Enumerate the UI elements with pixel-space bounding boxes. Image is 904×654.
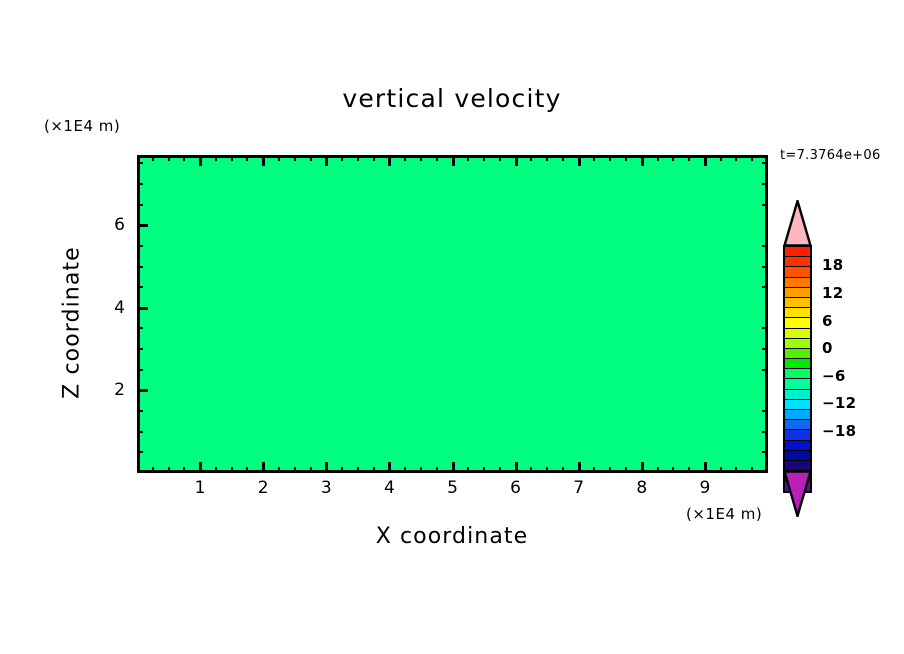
x-axis-tick-label: 2 (258, 478, 269, 498)
colorbar-band (785, 359, 810, 369)
y-axis-minor-tick (137, 431, 143, 433)
colorbar-band (785, 369, 810, 379)
x-axis-tick (704, 155, 707, 166)
colorbar-tick-label: 12 (822, 284, 843, 302)
x-axis-minor-tick (546, 155, 548, 161)
y-axis-tick-label: 6 (85, 215, 125, 235)
x-axis-minor-tick (483, 467, 485, 473)
x-axis-minor-tick (546, 467, 548, 473)
x-axis-tick-label: 9 (699, 478, 710, 498)
contour-plot-area (137, 155, 768, 473)
colorbar-band (785, 308, 810, 318)
y-axis-tick (137, 389, 148, 392)
y-axis-minor-tick (762, 451, 768, 453)
colorbar-band (785, 379, 810, 389)
x-axis-tick (704, 462, 707, 473)
x-axis-minor-tick (278, 155, 280, 161)
x-axis-minor-tick (420, 467, 422, 473)
colorbar-band (785, 451, 810, 461)
y-axis-minor-tick (762, 204, 768, 206)
y-axis-minor-tick (137, 410, 143, 412)
x-axis-minor-tick (215, 467, 217, 473)
x-axis-minor-tick (152, 467, 154, 473)
x-axis-minor-tick (625, 155, 627, 161)
x-axis-tick-label: 5 (447, 478, 458, 498)
y-axis-minor-tick (762, 245, 768, 247)
page-title: vertical velocity (0, 84, 904, 113)
x-axis-minor-tick (231, 155, 233, 161)
x-axis-tick (388, 155, 391, 166)
colorbar-band (785, 329, 810, 339)
colorbar-band (785, 288, 810, 298)
colorbar-band (785, 267, 810, 277)
x-axis-tick-label: 7 (573, 478, 584, 498)
colorbar-tick-label: 18 (822, 256, 843, 274)
colorbar-band (785, 400, 810, 410)
x-axis-minor-tick (720, 467, 722, 473)
colorbar-tick-label: −18 (822, 422, 856, 440)
y-axis-minor-tick (762, 369, 768, 371)
x-axis-tick-label: 8 (636, 478, 647, 498)
colorbar-band (785, 349, 810, 359)
colorbar-band (785, 247, 810, 257)
x-axis-minor-tick (231, 467, 233, 473)
x-axis-tick (578, 155, 581, 166)
x-axis-minor-tick (735, 155, 737, 161)
x-axis-minor-tick (499, 467, 501, 473)
colorbar-bottom-arrow-icon (783, 470, 812, 521)
y-axis-tick (137, 307, 148, 310)
x-axis-minor-tick (672, 155, 674, 161)
x-axis-minor-tick (593, 155, 595, 161)
x-axis-tick (641, 155, 644, 166)
x-axis-minor-tick (404, 155, 406, 161)
x-axis-tick (199, 462, 202, 473)
x-axis-tick-label: 6 (510, 478, 521, 498)
y-axis-minor-tick (137, 266, 143, 268)
x-axis-minor-tick (483, 155, 485, 161)
y-axis-minor-tick (137, 183, 143, 185)
colorbar-band (785, 430, 810, 440)
x-axis-minor-tick (341, 155, 343, 161)
x-axis-tick-label: 1 (195, 478, 206, 498)
x-axis-tick (515, 462, 518, 473)
x-axis-minor-tick (310, 467, 312, 473)
x-axis-minor-tick (751, 467, 753, 473)
y-axis-minor-tick (762, 348, 768, 350)
x-axis-tick-label: 3 (321, 478, 332, 498)
colorbar-band (785, 441, 810, 451)
z-axis-unit-label: (×1E4 m) (44, 117, 120, 135)
x-axis-minor-tick (294, 155, 296, 161)
y-axis-minor-tick (137, 348, 143, 350)
x-axis-minor-tick (657, 155, 659, 161)
colorbar-band (785, 257, 810, 267)
colorbar-band (785, 410, 810, 420)
x-axis-tick (388, 462, 391, 473)
x-axis-minor-tick (357, 155, 359, 161)
x-axis-tick (578, 462, 581, 473)
x-axis-tick (452, 462, 455, 473)
x-axis-minor-tick (420, 155, 422, 161)
x-axis-minor-tick (436, 467, 438, 473)
x-axis-unit-label: (×1E4 m) (686, 505, 762, 523)
y-axis-tick-label: 4 (85, 298, 125, 318)
x-axis-tick (452, 155, 455, 166)
y-axis-minor-tick (137, 327, 143, 329)
x-axis-minor-tick (341, 467, 343, 473)
x-axis-minor-tick (246, 467, 248, 473)
colorbar-band (785, 390, 810, 400)
y-axis-minor-tick (137, 369, 143, 371)
x-axis-minor-tick (373, 155, 375, 161)
x-axis-minor-tick (688, 467, 690, 473)
x-axis-minor-tick (246, 155, 248, 161)
x-axis-tick-label: 4 (384, 478, 395, 498)
x-axis-minor-tick (609, 467, 611, 473)
x-axis-minor-tick (436, 155, 438, 161)
y-axis-minor-tick (762, 183, 768, 185)
x-axis-minor-tick (499, 155, 501, 161)
y-axis-minor-tick (762, 410, 768, 412)
x-axis-minor-tick (688, 155, 690, 161)
x-axis-minor-tick (152, 155, 154, 161)
y-axis-minor-tick (762, 327, 768, 329)
y-axis-minor-tick (137, 162, 143, 164)
x-axis-minor-tick (278, 467, 280, 473)
x-axis-tick (262, 155, 265, 166)
x-axis-minor-tick (294, 467, 296, 473)
x-axis-tick (641, 462, 644, 473)
x-axis-tick (325, 462, 328, 473)
x-axis-minor-tick (672, 467, 674, 473)
y-axis-minor-tick (137, 245, 143, 247)
x-axis-minor-tick (562, 467, 564, 473)
x-axis-minor-tick (183, 155, 185, 161)
colorbar: 181260−6−12−18 (778, 200, 898, 530)
colorbar-tick-label: 0 (822, 339, 833, 357)
colorbar-band (785, 298, 810, 308)
colorbar-tick-label: 6 (822, 312, 833, 330)
x-axis-minor-tick (467, 467, 469, 473)
x-axis-tick (325, 155, 328, 166)
colorbar-top-arrow-icon (783, 200, 812, 251)
x-axis-minor-tick (751, 155, 753, 161)
x-axis-minor-tick (530, 467, 532, 473)
colorbar-band (785, 339, 810, 349)
y-axis-minor-tick (762, 286, 768, 288)
x-axis-minor-tick (467, 155, 469, 161)
x-axis-minor-tick (183, 467, 185, 473)
y-axis-minor-tick (762, 266, 768, 268)
y-axis-minor-tick (137, 286, 143, 288)
x-axis-minor-tick (609, 155, 611, 161)
x-axis-minor-tick (720, 155, 722, 161)
colorbar-tick-label: −6 (822, 367, 846, 385)
y-axis-minor-tick (137, 204, 143, 206)
timestamp-annotation: t=7.3764e+06 (780, 148, 881, 163)
x-axis-tick (199, 155, 202, 166)
x-axis-minor-tick (310, 155, 312, 161)
x-axis-minor-tick (657, 467, 659, 473)
x-axis-minor-tick (735, 467, 737, 473)
x-axis-minor-tick (593, 467, 595, 473)
velocity-field-canvas (140, 158, 765, 470)
y-axis-minor-tick (762, 431, 768, 433)
x-axis-minor-tick (215, 155, 217, 161)
x-axis-minor-tick (373, 467, 375, 473)
x-axis-minor-tick (168, 155, 170, 161)
x-axis-minor-tick (625, 467, 627, 473)
y-axis-minor-tick (762, 162, 768, 164)
x-axis-minor-tick (168, 467, 170, 473)
x-axis-title: X coordinate (0, 524, 904, 549)
y-axis-tick-label: 2 (85, 380, 125, 400)
colorbar-tick-label: −12 (822, 394, 856, 412)
x-axis-minor-tick (404, 467, 406, 473)
x-axis-minor-tick (530, 155, 532, 161)
colorbar-band (785, 278, 810, 288)
colorbar-band (785, 420, 810, 430)
y-axis-title: Z coordinate (60, 223, 85, 423)
x-axis-minor-tick (357, 467, 359, 473)
y-axis-minor-tick (137, 451, 143, 453)
x-axis-tick (515, 155, 518, 166)
x-axis-minor-tick (562, 155, 564, 161)
y-axis-tick (137, 224, 148, 227)
x-axis-tick (262, 462, 265, 473)
colorbar-band (785, 318, 810, 328)
colorbar-bands (783, 245, 812, 493)
